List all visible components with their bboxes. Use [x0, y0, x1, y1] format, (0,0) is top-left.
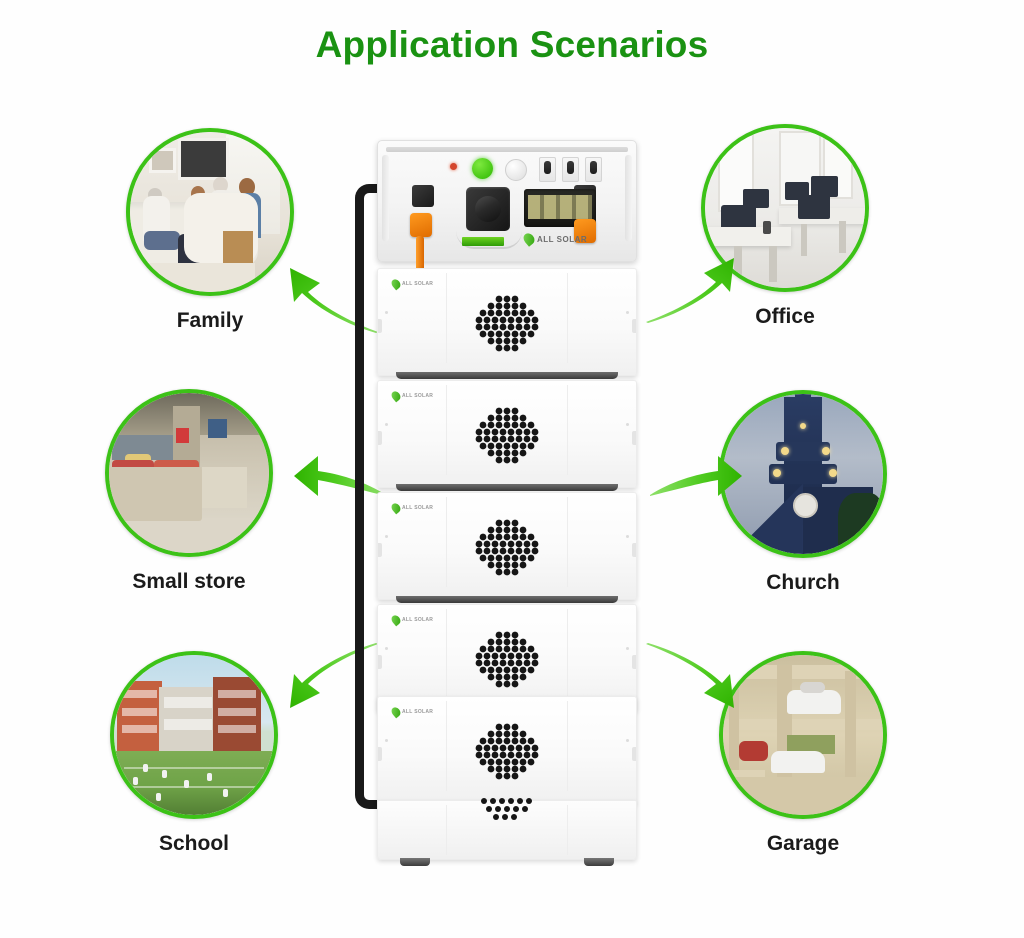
- green-power-button[interactable]: [472, 158, 493, 179]
- hex-vent-icon: [459, 629, 555, 701]
- scenario-church-circle: [719, 390, 887, 558]
- red-led-indicator: [450, 163, 457, 170]
- hex-vent-icon: [459, 293, 555, 365]
- module-brand-name: ALL SOLAR: [402, 709, 433, 715]
- module-brand-name: ALL SOLAR: [402, 505, 433, 511]
- hex-vent-icon: [459, 517, 555, 589]
- inverter-unit: ALL SOLAR: [377, 140, 637, 262]
- orange-connector-left: [410, 213, 432, 237]
- breaker-switch-2[interactable]: [562, 157, 579, 182]
- module-brand-name: ALL SOLAR: [402, 617, 433, 623]
- inverter-rail-right: [625, 155, 632, 241]
- brand-name: ALL SOLAR: [537, 235, 587, 244]
- battery-module: ALL SOLAR: [377, 380, 637, 488]
- hex-vent-icon: [459, 721, 555, 793]
- scenario-school-circle: [110, 651, 278, 819]
- scenario-family-circle: [126, 128, 294, 296]
- scenario-school-label: School: [101, 832, 287, 856]
- leaf-icon: [390, 614, 403, 627]
- breaker-switch-1[interactable]: [539, 157, 556, 182]
- leaf-icon: [390, 706, 403, 719]
- scenario-school[interactable]: School: [101, 651, 287, 856]
- breaker-switch-3[interactable]: [585, 157, 602, 182]
- page-title: Application Scenarios: [0, 24, 1024, 66]
- green-status-label: [462, 237, 504, 246]
- battery-module: ALL SOLAR: [377, 268, 637, 376]
- family-photo: [130, 132, 290, 292]
- module-brand-name: ALL SOLAR: [402, 281, 433, 287]
- base-unit: [377, 800, 637, 860]
- scenario-small-store[interactable]: Small store: [96, 389, 282, 594]
- scenario-small-store-label: Small store: [96, 570, 282, 594]
- arrow-up-right-icon: [642, 252, 738, 324]
- brand-logo: ALL SOLAR: [524, 233, 587, 245]
- scenario-small-store-circle: [105, 389, 273, 557]
- school-photo: [114, 655, 274, 815]
- leaf-icon: [390, 278, 403, 291]
- leaf-icon: [521, 231, 536, 247]
- scenario-family[interactable]: Family: [117, 128, 303, 333]
- battery-module: ALL SOLAR: [377, 696, 637, 804]
- arrow-down-right-icon: [642, 640, 738, 712]
- church-photo: [723, 394, 883, 554]
- module-logo: ALL SOLAR: [392, 615, 433, 625]
- module-logo: ALL SOLAR: [392, 503, 433, 513]
- module-logo: ALL SOLAR: [392, 707, 433, 717]
- scenario-church-label: Church: [710, 571, 896, 595]
- scenario-family-label: Family: [117, 309, 303, 333]
- hex-vent-icon: [459, 405, 555, 477]
- grey-button[interactable]: [505, 159, 527, 181]
- inverter-rail-left: [382, 155, 389, 241]
- base-vent-icon: [472, 797, 542, 827]
- inverter-top-bar: [386, 147, 628, 152]
- leaf-icon: [390, 390, 403, 403]
- energy-storage-device-stack: ALL SOLAR ALL SOLAR: [355, 140, 645, 820]
- rotary-selector-knob[interactable]: [466, 187, 510, 231]
- base-foot-right: [584, 858, 614, 866]
- leaf-icon: [390, 502, 403, 515]
- arrow-right-icon: [648, 452, 744, 508]
- scenario-garage-label: Garage: [710, 832, 896, 856]
- small-store-photo: [109, 393, 269, 553]
- module-logo: ALL SOLAR: [392, 391, 433, 401]
- dc-connector-left: [412, 185, 434, 207]
- base-foot-left: [400, 858, 430, 866]
- battery-module: ALL SOLAR: [377, 492, 637, 600]
- garage-photo: [723, 655, 883, 815]
- module-brand-name: ALL SOLAR: [402, 393, 433, 399]
- module-logo: ALL SOLAR: [392, 279, 433, 289]
- scenario-garage-circle: [719, 651, 887, 819]
